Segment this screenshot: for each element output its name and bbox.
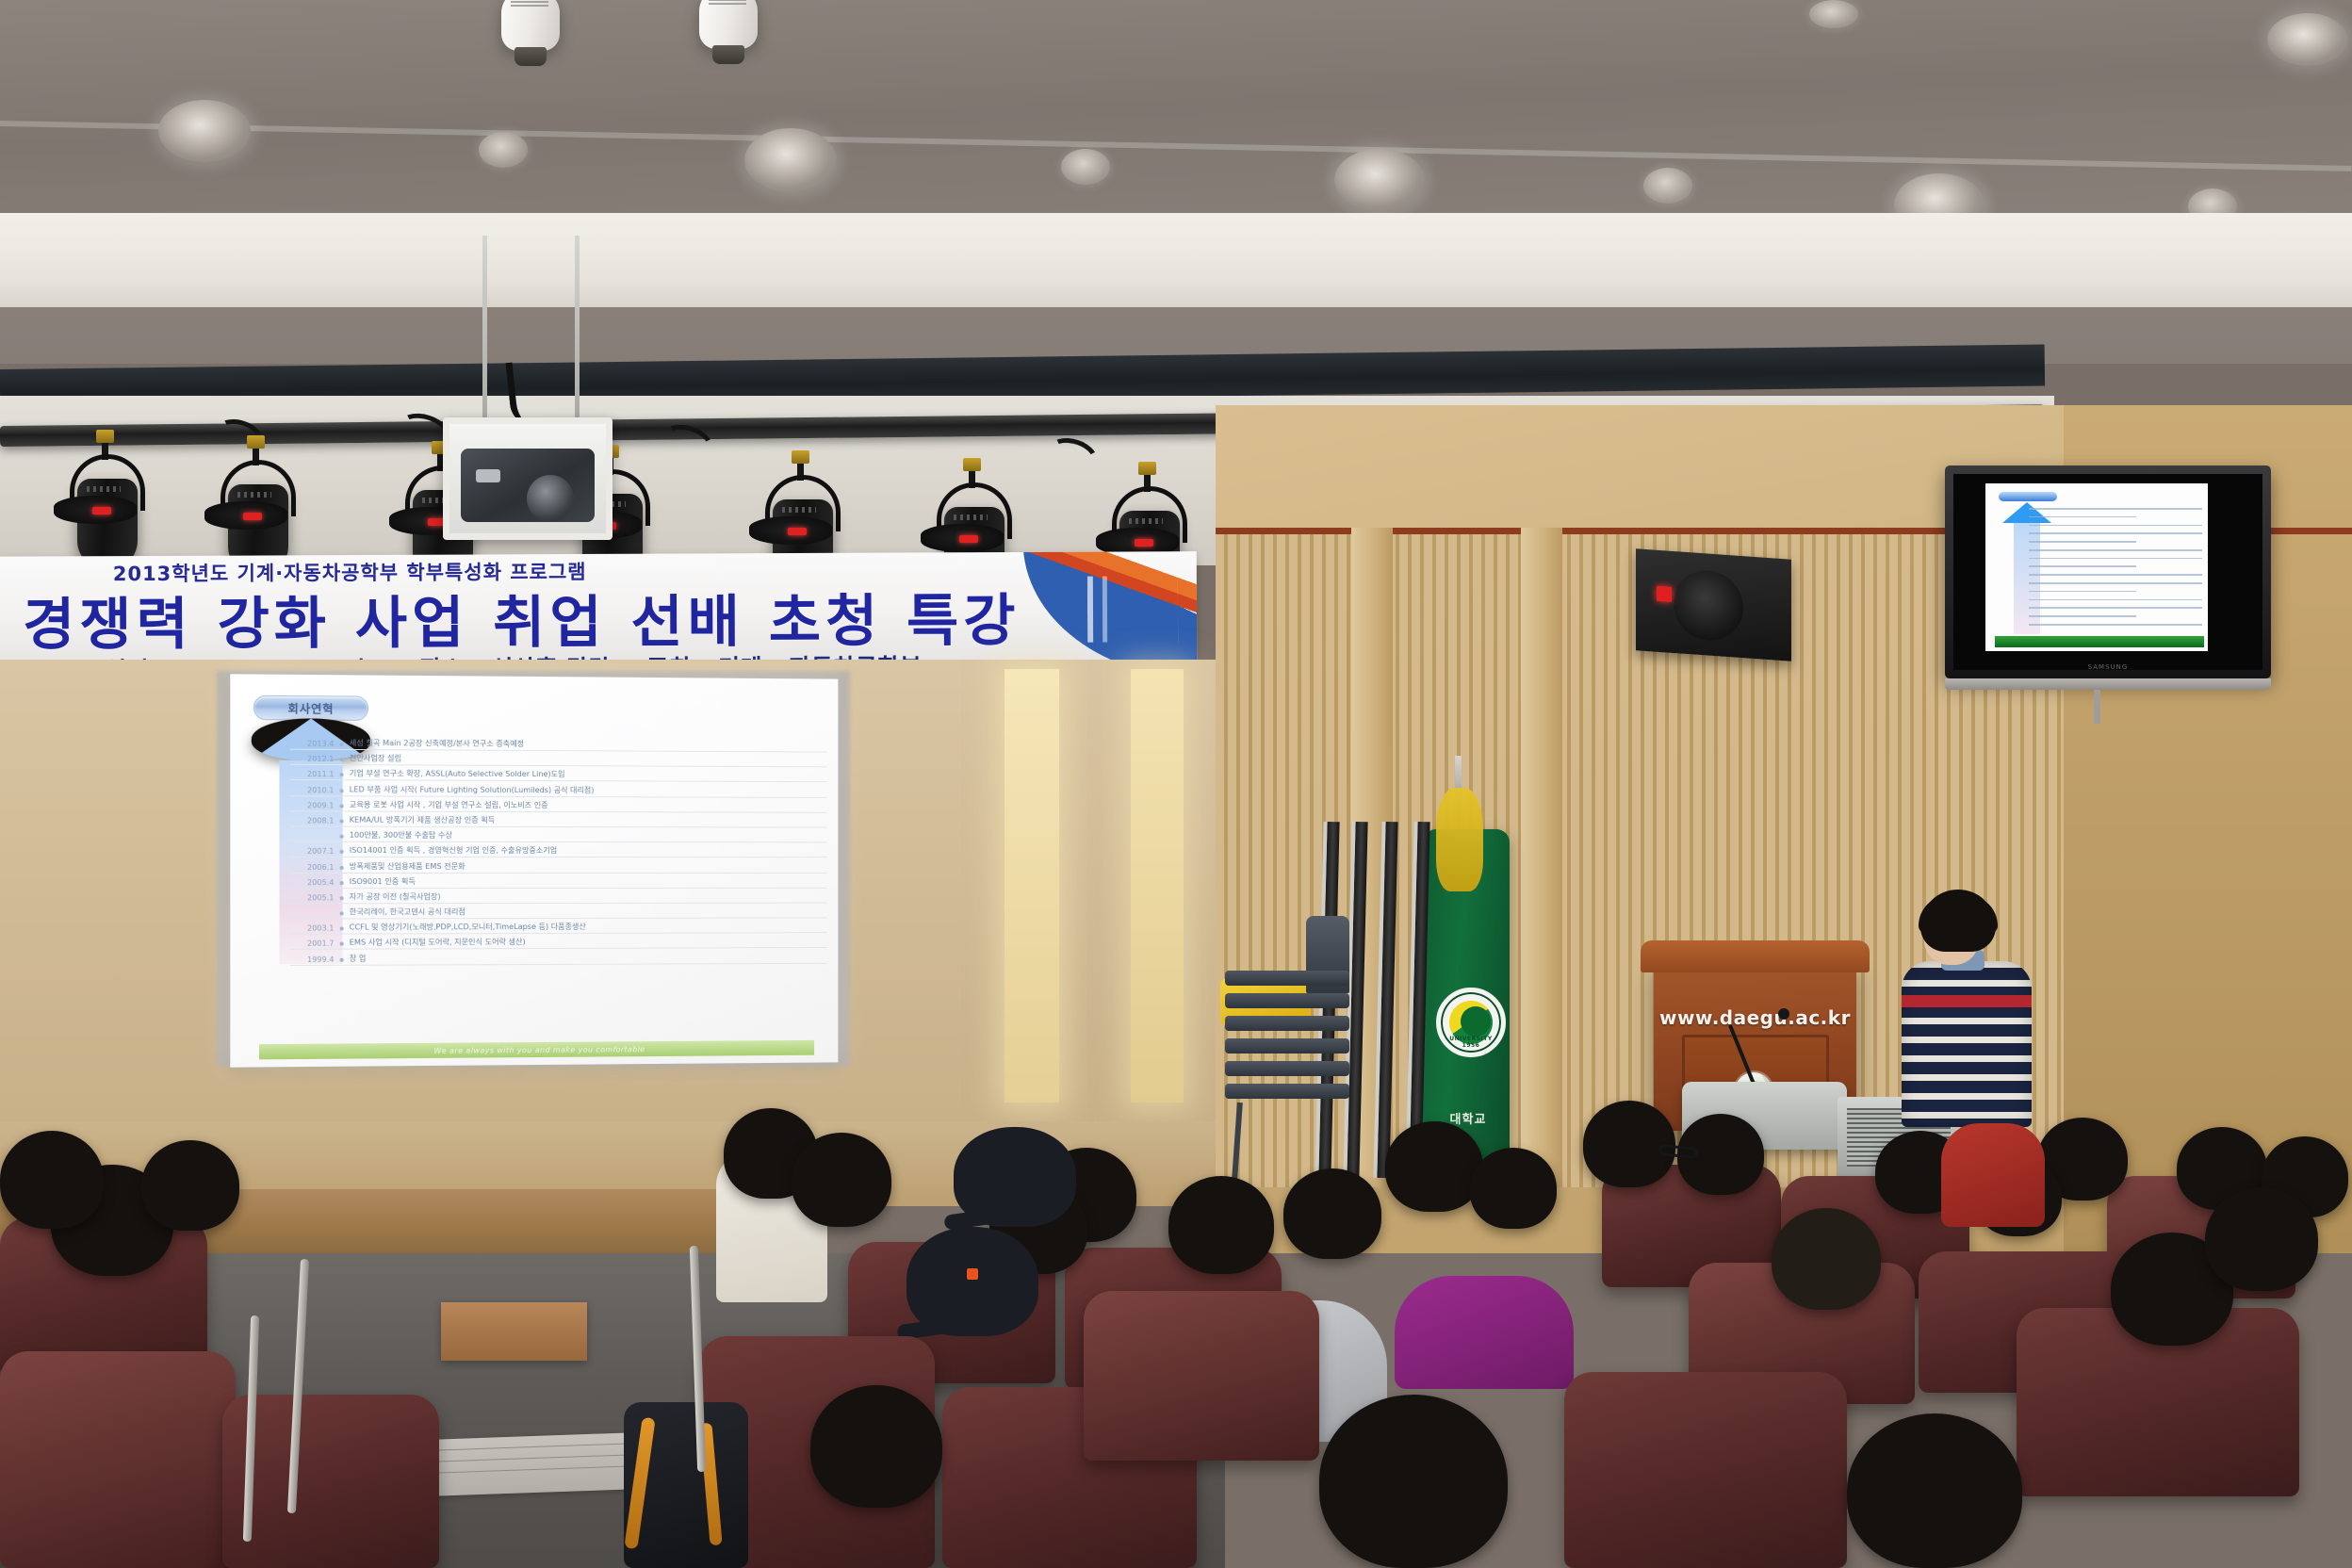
ceiling-downlight-icon [1809, 0, 1858, 28]
podium-url-text: www.daegu.ac.kr [1654, 1006, 1856, 1029]
slide-timeline-row: 2005.1자가 공장 이전 (칠곡사업장) [290, 891, 827, 905]
wall-speaker-icon [1636, 548, 1791, 661]
slide-timeline-row: 2005.4ISO9001 인증 획득 [290, 876, 827, 889]
banner-main-title: 업 경쟁력 강화 사업 취업 선배 초청 특강 [0, 575, 1101, 661]
wall-light-panel [1131, 669, 1184, 1102]
slide-timeline-year: 2011.1 [290, 770, 335, 778]
slide-timeline-year: 2007.1 [290, 847, 335, 856]
audience-head [1772, 1208, 1881, 1310]
hanging-lamp-icon [699, 0, 758, 49]
slide-timeline-text: LED 부품 사업 시작( Future Lighting Solution(L… [350, 784, 595, 795]
bullet-icon [340, 896, 344, 900]
projector-mount-rod [482, 236, 487, 424]
ceiling-downlight-icon [2267, 13, 2348, 66]
bullet-icon [340, 835, 344, 839]
audience-head [1319, 1395, 1508, 1568]
wall-tv-monitor: SAMSUNG [1945, 465, 2271, 678]
slide-timeline-year: 2005.1 [290, 893, 335, 902]
auditorium-seat [0, 1351, 236, 1568]
audience-head [792, 1133, 891, 1227]
slide-title-badge: 회사연혁 [253, 695, 368, 721]
bullet-icon [340, 927, 344, 931]
tv-slide-row [2029, 541, 2136, 543]
bullet-icon [340, 743, 344, 746]
slide-timeline-text: 100만불, 300만불 수출탑 수상 [350, 830, 452, 841]
slide-timeline-row: 2009.1교육용 로봇 사업 시작 , 기업 부설 연구소 설립, 이노비즈 … [290, 799, 827, 813]
bullet-icon [340, 865, 344, 869]
slide-timeline-row: 1999.4창 업 [290, 952, 827, 966]
projector-icon [443, 417, 612, 540]
tv-slide-row [2029, 591, 2136, 593]
tv-slide-row [2029, 574, 2202, 576]
slide-timeline: 2013.4세성 칠곡 Main 2공장 신축예정/본사 연구소 증축예정201… [290, 738, 827, 969]
slide-timeline-year: 2009.1 [290, 801, 335, 809]
slide-timeline-row: 2013.4세성 칠곡 Main 2공장 신축예정/본사 연구소 증축예정 [290, 738, 827, 753]
audience-head [1168, 1176, 1274, 1274]
slide-timeline-year: 2001.7 [290, 939, 335, 948]
slide-timeline-row: 한국리레이, 한국고덴시 공식 대리점 [290, 906, 827, 920]
ceiling-downlight-icon [479, 132, 528, 168]
tv-slide-mirror [1985, 483, 2208, 651]
audience-head [2205, 1187, 2318, 1291]
bullet-icon [340, 957, 344, 961]
audience-head [0, 1131, 104, 1229]
slide-timeline-row: 2012.1천안사업장 설립 [290, 753, 827, 768]
wall-light-panel [1004, 669, 1059, 1102]
slide-timeline-text: 창 업 [350, 953, 367, 963]
slide-timeline-year: 2008.1 [290, 816, 335, 825]
slide-timeline-text: 한국리레이, 한국고덴시 공식 대리점 [350, 906, 465, 917]
slide-timeline-year: 2013.4 [290, 740, 335, 748]
slide-timeline-text: 교육용 로봇 사업 시작 , 기업 부설 연구소 설립, 이노비즈 인증 [350, 799, 548, 810]
hanging-lamp-icon [501, 0, 560, 51]
slide-timeline-text: 기업 부설 연구소 확장, ASSL(Auto Selective Solder… [350, 769, 565, 780]
audience-head [1283, 1168, 1381, 1259]
ceiling-downlight-icon [744, 128, 837, 192]
tv-slide-row [2029, 607, 2202, 609]
tv-brand-label: SAMSUNG [2088, 663, 2129, 670]
slide-timeline-text: 세성 칠곡 Main 2공장 신축예정/본사 연구소 증축예정 [350, 738, 524, 749]
bullet-icon [340, 789, 344, 792]
auditorium-seat [1084, 1291, 1319, 1461]
slide-timeline-year: 2010.1 [290, 786, 335, 794]
wood-column [1521, 528, 1562, 1187]
audience-cap-icon [954, 1127, 1076, 1227]
slide-timeline-row: 2001.7EMS 사업 시작 (디지털 도어락, 지문인식 도어락 생산) [290, 937, 827, 951]
tv-slide-row [2029, 525, 2202, 527]
slide-timeline-year: 2006.1 [290, 862, 335, 871]
slide-timeline-row: 2006.1방폭제품및 산업용제품 EMS 전문화 [290, 860, 827, 873]
stage-step [441, 1302, 587, 1361]
tv-slide-row [2029, 599, 2202, 601]
audience-head [810, 1385, 942, 1508]
bullet-icon [340, 758, 344, 761]
slide-timeline-year: 2012.1 [290, 755, 335, 763]
bullet-icon [340, 942, 344, 946]
audience-purple-hoodie [1395, 1276, 1574, 1389]
ceiling [0, 0, 2352, 245]
slide-timeline-row: 2011.1기업 부설 연구소 확장, ASSL(Auto Selective … [290, 768, 827, 782]
soffit [0, 213, 2352, 307]
audience-head [1847, 1413, 2022, 1568]
audience-jacket [1941, 1123, 2045, 1227]
slide-timeline-row: 2010.1LED 부품 사업 시작( Future Lighting Solu… [290, 784, 827, 798]
slide-timeline-text: ISO9001 인증 획득 [350, 876, 416, 887]
audience-head [141, 1140, 239, 1231]
ceiling-downlight-icon [158, 100, 251, 162]
slide-timeline-text: CCFL 및 영상기기(노래방,PDP,LCD,모니터,TimeLapse 등)… [350, 922, 586, 933]
tv-mount-arm [2094, 690, 2100, 724]
microphone-head-icon [1778, 1008, 1789, 1020]
slide-footer-tagline: We are always with you and make you comf… [259, 1040, 814, 1059]
projection-screen: 회사연혁 2013.4세성 칠곡 Main 2공장 신축예정/본사 연구소 증축… [230, 674, 838, 1067]
slide-timeline-year: 2005.4 [290, 878, 335, 887]
ceiling-downlight-icon [1643, 168, 1692, 204]
slide-timeline-text: KEMA/UL 방폭기기 제품 생산공장 인증 획득 [350, 814, 495, 825]
event-banner: 2013학년도 기계·자동차공학부 학부특성화 프로그램 업 경쟁력 강화 사업… [0, 551, 1197, 672]
slide-timeline-row: 2008.1KEMA/UL 방폭기기 제품 생산공장 인증 획득 [290, 814, 827, 827]
stacked-chairs [1225, 971, 1366, 1178]
stage-light-icon [64, 450, 151, 573]
bullet-icon [340, 850, 344, 854]
tv-slide-row [2029, 532, 2202, 534]
tv-slide-row [2029, 582, 2202, 584]
ceiling-downlight-icon [1061, 149, 1110, 185]
slide-timeline-year: 2003.1 [290, 924, 335, 933]
slide-timeline-row: 2003.1CCFL 및 영상기기(노래방,PDP,LCD,모니터,TimeLa… [290, 922, 827, 935]
slide-timeline-year: 1999.4 [290, 955, 335, 963]
tv-mount-base [1945, 678, 2271, 690]
bullet-icon [340, 804, 344, 808]
slide-timeline-row: 2007.1ISO14001 인증 획득 , 경영혁신형 기업 인증, 수출유망… [290, 845, 827, 857]
tv-slide-row [2029, 558, 2202, 560]
bullet-icon [340, 881, 344, 885]
bullet-icon [340, 819, 344, 823]
projector-mount-rod [575, 236, 580, 424]
bullet-icon [340, 774, 344, 777]
slide-timeline-text: ISO14001 인증 획득 , 경영혁신형 기업 인증, 수출유망중소기업 [350, 845, 557, 856]
tv-slide-row [2029, 516, 2136, 518]
slide-timeline-text: 자가 공장 이전 (칠곡사업장) [350, 891, 441, 902]
slide-timeline-text: 천안사업장 설립 [350, 753, 401, 763]
auditorium-photo: 2013학년도 기계·자동차공학부 학부특성화 프로그램 업 경쟁력 강화 사업… [0, 0, 2352, 1568]
tv-slide-row [2029, 615, 2136, 617]
slide-timeline-text: EMS 사업 시작 (디지털 도어락, 지문인식 도어락 생산) [350, 937, 526, 948]
tv-slide-row [2029, 549, 2202, 551]
tv-slide-row [2029, 624, 2202, 626]
tv-slide-row [2029, 508, 2202, 510]
slide-timeline-row: 100만불, 300만불 수출탑 수상 [290, 830, 827, 843]
slide-timeline-text: 방폭제품및 산업용제품 EMS 전문화 [350, 860, 465, 871]
bullet-icon [340, 911, 344, 915]
audience-head [1385, 1121, 1483, 1212]
presenter-person [1896, 890, 2037, 1125]
auditorium-seat [1564, 1372, 1847, 1568]
audience-head [1470, 1148, 1557, 1229]
ceiling-downlight-icon [1334, 149, 1425, 211]
tv-slide-row [2029, 565, 2136, 567]
audience-cap-icon [906, 1227, 1038, 1336]
backpack [624, 1402, 748, 1568]
